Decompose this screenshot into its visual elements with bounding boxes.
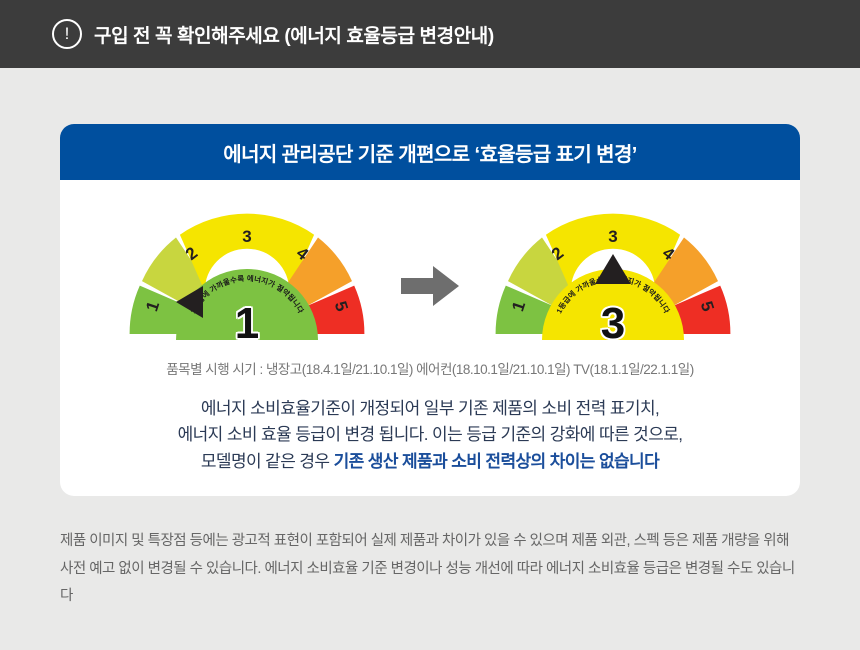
disclaimer-text: 제품 이미지 및 특장점 등에는 광고적 표현이 포함되어 실제 제품과 차이가…: [60, 528, 800, 611]
schedule-note: 품목별 시행 시기 : 냉장고(18.4.1일/21.10.1일) 에어컨(18…: [60, 358, 800, 378]
page-header: ! 구입 전 꼭 확인해주세요 (에너지 효율등급 변경안내): [0, 0, 860, 68]
body-copy-line-3-plain: 모델명이 같은 경우: [201, 452, 334, 471]
body-copy: 에너지 소비효율기준이 개정되어 일부 기존 제품의 소비 전력 표기치, 에너…: [60, 396, 800, 475]
gauge-pointer-before: [176, 286, 203, 318]
body-copy-line-2: 에너지 소비 효율 등급이 변경 됩니다. 이는 등급 기준의 강화에 따른 것…: [60, 422, 800, 448]
energy-gauge-after: 1 2 3 4 5 1등급에 가까울수록 에너지가 절약됩니다 3: [495, 204, 731, 340]
page-title: 구입 전 꼭 확인해주세요 (에너지 효율등급 변경안내): [94, 21, 494, 48]
svg-text:3: 3: [608, 227, 617, 246]
exclamation-glyph: !: [65, 25, 70, 42]
energy-grade-comparison: 1 2 3 4 5 1등급에 가까울수록 에너지가 절약됩니다 1: [60, 188, 800, 356]
body-copy-highlight: 기존 생산 제품과 소비 전력상의 차이는 없습니다: [334, 452, 660, 471]
gauge-grade-number-after: 3: [542, 302, 684, 346]
card-title: 에너지 관리공단 기준 개편으로 ‘효율등급 표기 변경’: [223, 138, 636, 167]
body-copy-line-3: 모델명이 같은 경우 기존 생산 제품과 소비 전력상의 차이는 없습니다: [60, 449, 800, 475]
energy-gauge-before: 1 2 3 4 5 1등급에 가까울수록 에너지가 절약됩니다 1: [129, 204, 365, 340]
exclamation-circle-icon: !: [52, 19, 82, 49]
card-title-bar: 에너지 관리공단 기준 개편으로 ‘효율등급 표기 변경’: [60, 124, 800, 180]
right-arrow-icon: [399, 263, 461, 309]
body-copy-line-1: 에너지 소비효율기준이 개정되어 일부 기존 제품의 소비 전력 표기치,: [60, 396, 800, 422]
gauge-pointer-after: [595, 254, 631, 284]
svg-text:3: 3: [242, 227, 251, 246]
notice-card: 에너지 관리공단 기준 개편으로 ‘효율등급 표기 변경’ 1 2 3 4 5: [60, 124, 800, 496]
